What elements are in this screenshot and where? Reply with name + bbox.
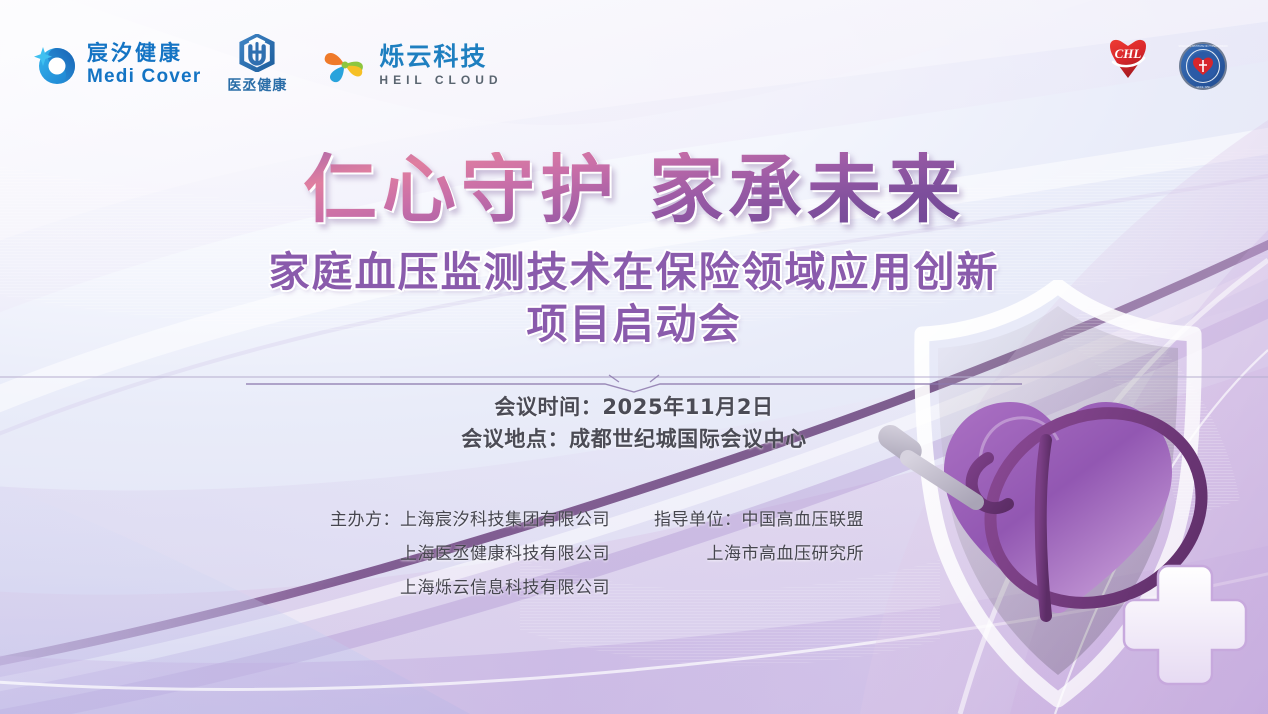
decorative-divider: [0, 372, 1268, 394]
logo-yicheng-cn: 医丞健康: [227, 75, 287, 95]
logo-yicheng: 医丞健康: [227, 34, 287, 95]
host-item-0: 上海宸汐科技集团有限公司: [400, 510, 610, 530]
subtitle-line-1: 家庭血压监测技术在保险领域应用创新: [0, 246, 1268, 298]
guide-item-0: 中国高血压联盟: [742, 510, 865, 530]
svg-text:SINCE 1958: SINCE 1958: [1196, 86, 1210, 89]
meeting-place: 会议地点：成都世纪城国际会议中心: [0, 424, 1268, 456]
host-item-2: 上海烁云信息科技有限公司: [400, 578, 610, 598]
logo-medi-cover-cn: 宸汐健康: [87, 43, 201, 64]
host-column: 主办方：上海宸汐科技集团有限公司 上海医丞健康科技有限公司 上海烁云信息科技有限…: [330, 503, 610, 605]
chl-emblem: CHL: [1100, 36, 1156, 96]
guide-column: 指导单位：中国高血压联盟 上海市高血压研究所: [654, 503, 864, 605]
host-item-1: 上海医丞健康科技有限公司: [400, 544, 610, 564]
logo-heil-cloud: 烁云科技 HEIL CLOUD: [321, 43, 502, 87]
cube-box-icon: [238, 34, 276, 72]
logo-heil-cloud-cn: 烁云科技: [379, 44, 502, 69]
partner-logo-bar: 宸汐健康 Medi Cover 医丞健康: [34, 34, 503, 95]
subtitle: 家庭血压监测技术在保险领域应用创新 项目启动会: [0, 246, 1268, 351]
main-title-left: 仁心守护: [303, 147, 619, 233]
logo-heil-cloud-en: HEIL CLOUD: [379, 74, 502, 86]
meeting-info: 会议时间：2025年11月2日 会议地点：成都世纪城国际会议中心: [0, 392, 1268, 456]
svg-text:SHANGHAI INSTITUTE OF HYPERTEN: SHANGHAI INSTITUTE OF HYPERTENSION: [1179, 45, 1228, 48]
main-title: 仁心守护家承未来: [303, 152, 965, 230]
guide-label: 指导单位：: [654, 510, 742, 530]
chl-emblem-label: CHL: [1115, 46, 1142, 61]
meeting-time: 会议时间：2025年11月2日: [0, 392, 1268, 424]
main-title-right: 家承未来: [649, 147, 965, 233]
background-ribbons: [0, 0, 1268, 714]
circular-swirl-icon: [34, 43, 78, 87]
poster-stage: 宸汐健康 Medi Cover 医丞健康: [0, 0, 1268, 714]
guide-item-1: 上海市高血压研究所: [707, 544, 865, 564]
title-block: 仁心守护家承未来 家庭血压监测技术在保险领域应用创新 项目启动会: [0, 152, 1268, 351]
host-label: 主办方：: [330, 510, 400, 530]
logo-medi-cover: 宸汐健康 Medi Cover: [34, 43, 201, 87]
subtitle-line-2: 项目启动会: [0, 298, 1268, 350]
logo-medi-cover-en: Medi Cover: [87, 67, 201, 86]
four-petal-pinwheel-icon: [321, 43, 369, 87]
organization-emblems: CHL SHANGHAI INSTITUTE OF HYPERTENSION S…: [1100, 36, 1228, 96]
organizer-block: 主办方：上海宸汐科技集团有限公司 上海医丞健康科技有限公司 上海烁云信息科技有限…: [330, 503, 864, 605]
shanghai-institute-emblem: SHANGHAI INSTITUTE OF HYPERTENSION SINCE…: [1178, 41, 1228, 91]
